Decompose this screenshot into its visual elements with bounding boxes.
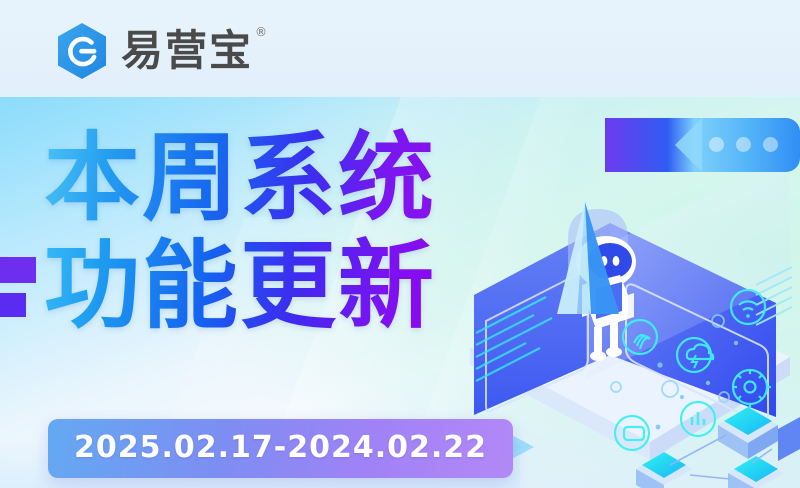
- dot-icon: [709, 137, 724, 152]
- update-banner-poster: 易营宝 ®: [0, 0, 800, 488]
- accent-chip: [0, 257, 36, 283]
- brand-name-text: 易营宝: [121, 26, 253, 75]
- dot-icon: [736, 137, 751, 152]
- headline-line-2: 功能更新: [44, 233, 436, 341]
- hexagon-e-icon: [55, 22, 109, 80]
- cube-icon: [778, 417, 800, 461]
- banner-body: 本周系统 功能更新 2025.02.17-2024.02.22: [0, 97, 800, 488]
- dot-icon: [763, 137, 778, 152]
- chat-bubble-icon: [605, 116, 800, 174]
- accent-chip: [0, 293, 26, 317]
- date-range-label: 2025.02.17-2024.02.22: [74, 430, 487, 465]
- headline-line-1: 本周系统: [44, 125, 436, 233]
- cone-icon: [533, 202, 623, 317]
- header-band: 易营宝 ®: [0, 0, 800, 97]
- brand-logo[interactable]: 易营宝 ®: [55, 22, 253, 80]
- date-range-pill: 2025.02.17-2024.02.22: [48, 419, 513, 478]
- headline: 本周系统 功能更新: [44, 125, 436, 340]
- registered-mark: ®: [255, 26, 269, 38]
- brand-name: 易营宝 ®: [121, 30, 253, 72]
- chat-bubble-dots: [709, 137, 778, 152]
